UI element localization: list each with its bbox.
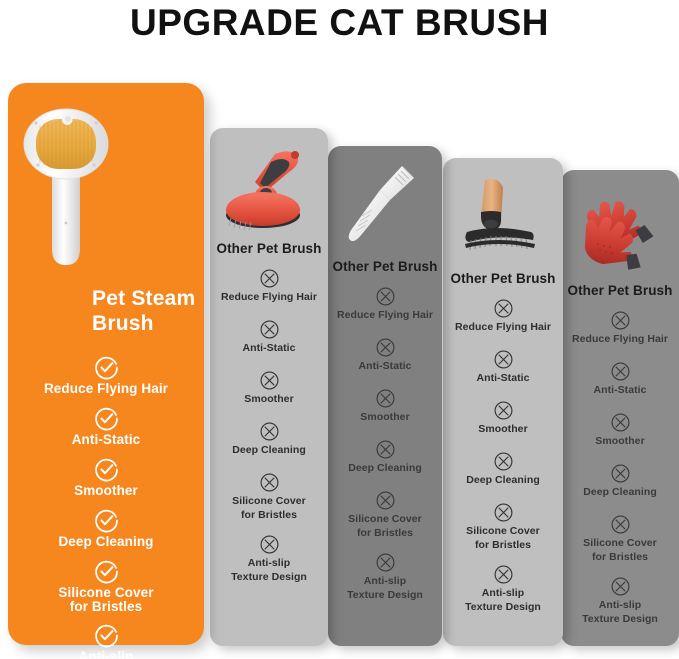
feature-label: Anti-slip — [210, 557, 328, 571]
feature-list-main: Reduce Flying Hair Anti-Static Smoother … — [8, 355, 204, 659]
cross-circle-icon — [328, 439, 442, 460]
comparison-chart-page: UPGRADE CAT BRUSH — [0, 0, 679, 659]
feature-label-line2: for Bristles — [210, 509, 328, 523]
cross-circle-icon — [210, 421, 328, 442]
cross-circle-icon — [443, 349, 563, 370]
feature-label: Reduce Flying Hair — [561, 333, 679, 347]
check-circle-icon — [8, 355, 204, 380]
feature-label-line2: for Bristles — [328, 527, 442, 541]
feature-label: Reduce Flying Hair — [210, 291, 328, 305]
feature-label: Deep Cleaning — [8, 535, 204, 549]
feature-list-other-4: Reduce Flying Hair Anti-Static Smoother … — [561, 310, 679, 638]
feature-list-other-1: Reduce Flying Hair Anti-Static Smoother … — [210, 268, 328, 596]
feature-row: Anti-slip Texture Design — [210, 534, 328, 596]
feature-label: Silicone Cover — [8, 586, 204, 600]
product-name-main-line2: Brush — [92, 312, 154, 335]
white-deshedding-blade-product-icon — [340, 160, 430, 256]
cross-circle-icon — [328, 552, 442, 573]
product-name-main: Pet Steam Brush — [92, 286, 202, 336]
feature-row: Deep Cleaning — [8, 508, 204, 559]
feature-list-other-2: Reduce Flying Hair Anti-Static Smoother … — [328, 286, 442, 614]
feature-row: Smoother — [210, 370, 328, 421]
feature-label: Silicone Cover — [210, 495, 328, 509]
cross-circle-icon — [443, 564, 563, 585]
feature-row: Reduce Flying Hair — [561, 310, 679, 361]
cross-circle-icon — [210, 268, 328, 289]
comparison-column-other-1: Other Pet Brush Reduce Flying Hair Anti-… — [210, 128, 328, 646]
cross-circle-icon — [210, 370, 328, 391]
feature-label: Smoother — [328, 411, 442, 425]
feature-label: Smoother — [561, 435, 679, 449]
comparison-column-other-2: Other Pet Brush Reduce Flying Hair Anti-… — [328, 146, 442, 646]
feature-row: Silicone Cover for Bristles — [328, 490, 442, 552]
feature-row: Anti-Static — [8, 406, 204, 457]
feature-row: Silicone Cover for Bristles — [210, 472, 328, 534]
feature-label: Smoother — [443, 423, 563, 437]
feature-row: Reduce Flying Hair — [328, 286, 442, 337]
check-circle-icon — [8, 457, 204, 482]
cross-circle-icon — [443, 400, 563, 421]
cross-circle-icon — [443, 502, 563, 523]
feature-label-line2: Texture Design — [443, 601, 563, 615]
comparison-column-other-3: Other Pet Brush Reduce Flying Hair Anti-… — [443, 158, 563, 646]
feature-row: Anti-Static — [561, 361, 679, 412]
feature-row: Deep Cleaning — [210, 421, 328, 472]
feature-row: Anti-Static — [328, 337, 442, 388]
cross-circle-icon — [561, 361, 679, 382]
feature-label: Reduce Flying Hair — [328, 309, 442, 323]
feature-label: Smoother — [210, 393, 328, 407]
feature-label: Anti-Static — [443, 372, 563, 386]
product-name-main-line1: Pet Steam — [92, 287, 195, 310]
cross-circle-icon — [561, 310, 679, 331]
cross-circle-icon — [561, 463, 679, 484]
feature-row: Reduce Flying Hair — [443, 298, 563, 349]
feature-label: Anti-slip — [443, 587, 563, 601]
wood-handle-deshedding-rake-product-icon — [455, 172, 551, 268]
feature-row: Reduce Flying Hair — [8, 355, 204, 406]
feature-row: Smoother — [561, 412, 679, 463]
feature-label: Smoother — [8, 484, 204, 498]
cross-circle-icon — [561, 576, 679, 597]
feature-label-line2: for Bristles — [561, 551, 679, 565]
check-circle-icon — [8, 559, 204, 584]
feature-label-line2: Texture Design — [328, 589, 442, 603]
feature-row: Deep Cleaning — [561, 463, 679, 514]
feature-label: Silicone Cover — [328, 513, 442, 527]
feature-label: Anti-Static — [561, 384, 679, 398]
red-grooming-gloves-product-icon — [572, 184, 668, 280]
check-circle-icon — [8, 406, 204, 431]
feature-row: Anti-Static — [210, 319, 328, 370]
feature-label-line2: for Bristles — [8, 600, 204, 614]
comparison-column-main: Pet Steam Brush Reduce Flying Hair Anti-… — [8, 83, 204, 645]
product-name-other-3: Other Pet Brush — [443, 271, 563, 286]
feature-row: Anti-slip Texture Design — [561, 576, 679, 638]
cross-circle-icon — [443, 298, 563, 319]
feature-label: Anti-slip — [8, 650, 204, 659]
cross-circle-icon — [328, 490, 442, 511]
check-circle-icon — [8, 623, 204, 648]
cross-circle-icon — [328, 337, 442, 358]
product-image-wrap-other-1 — [210, 134, 328, 238]
feature-row: Anti-slip Texture Design — [328, 552, 442, 614]
feature-label: Deep Cleaning — [561, 486, 679, 500]
feature-label: Deep Cleaning — [210, 444, 328, 458]
feature-label: Silicone Cover — [561, 537, 679, 551]
feature-label: Anti-slip — [328, 575, 442, 589]
page-title: UPGRADE CAT BRUSH — [0, 2, 679, 44]
product-image-wrap-other-4 — [561, 176, 679, 280]
feature-row: Anti-slip Texture Design — [443, 564, 563, 626]
product-image-wrap-main — [8, 91, 204, 271]
product-image-wrap-other-2 — [328, 152, 442, 256]
feature-label-line2: Texture Design — [210, 571, 328, 585]
feature-label: Anti-Static — [8, 433, 204, 447]
cross-circle-icon — [561, 412, 679, 433]
feature-label: Anti-Static — [328, 360, 442, 374]
feature-label: Silicone Cover — [443, 525, 563, 539]
feature-label: Reduce Flying Hair — [443, 321, 563, 335]
feature-label: Deep Cleaning — [443, 474, 563, 488]
product-name-other-1: Other Pet Brush — [210, 241, 328, 256]
feature-row: Silicone Cover for Bristles — [561, 514, 679, 576]
cross-circle-icon — [561, 514, 679, 535]
product-name-other-2: Other Pet Brush — [328, 259, 442, 274]
check-circle-icon — [8, 508, 204, 533]
feature-label: Reduce Flying Hair — [8, 382, 204, 396]
cross-circle-icon — [210, 319, 328, 340]
feature-row: Smoother — [8, 457, 204, 508]
cross-circle-icon — [443, 451, 563, 472]
feature-row: Deep Cleaning — [328, 439, 442, 490]
cross-circle-icon — [328, 388, 442, 409]
feature-row: Deep Cleaning — [443, 451, 563, 502]
pet-steam-brush-product-icon — [22, 99, 110, 271]
feature-row: Anti-slip Texture Design — [8, 623, 204, 659]
feature-row: Silicone Cover for Bristles — [443, 502, 563, 564]
feature-label-line2: Texture Design — [561, 613, 679, 627]
cross-circle-icon — [210, 472, 328, 493]
product-name-other-4: Other Pet Brush — [561, 283, 679, 298]
cross-circle-icon — [328, 286, 442, 307]
product-image-wrap-other-3 — [443, 164, 563, 268]
feature-label: Anti-Static — [210, 342, 328, 356]
feature-row: Smoother — [443, 400, 563, 451]
feature-row: Smoother — [328, 388, 442, 439]
red-slicker-brush-product-icon — [219, 142, 319, 238]
feature-label: Deep Cleaning — [328, 462, 442, 476]
feature-row: Reduce Flying Hair — [210, 268, 328, 319]
feature-row: Silicone Cover for Bristles — [8, 559, 204, 623]
comparison-column-other-4: Other Pet Brush Reduce Flying Hair Anti-… — [561, 170, 679, 646]
feature-label: Anti-slip — [561, 599, 679, 613]
feature-row: Anti-Static — [443, 349, 563, 400]
feature-list-other-3: Reduce Flying Hair Anti-Static Smoother … — [443, 298, 563, 626]
cross-circle-icon — [210, 534, 328, 555]
feature-label-line2: for Bristles — [443, 539, 563, 553]
